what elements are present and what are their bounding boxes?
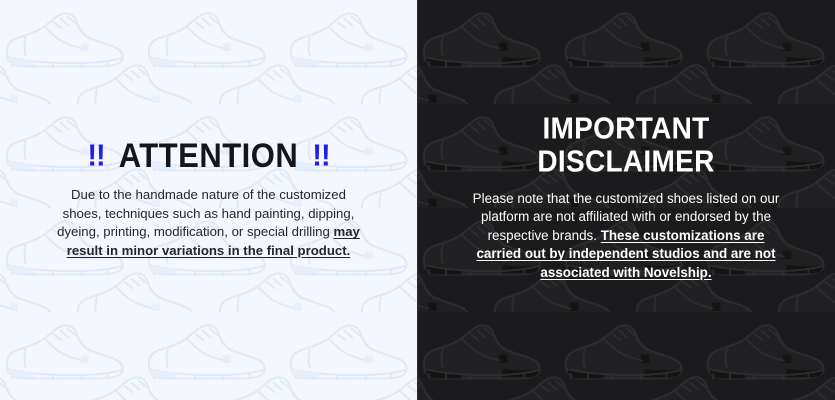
disclaimer-title-line-2: DISCLAIMER xyxy=(443,145,809,178)
panel-divider xyxy=(417,0,418,400)
disclaimer-heading: IMPORTANT DISCLAIMER xyxy=(443,111,809,178)
promo-banner: !! ATTENTION !! Due to the handmade natu… xyxy=(0,0,835,400)
exclamation-left-icon: !! xyxy=(87,140,104,172)
disclaimer-title-line-1: IMPORTANT xyxy=(443,111,809,144)
attention-body-normal: Due to the handmade nature of the custom… xyxy=(57,187,354,239)
exclamation-right-icon: !! xyxy=(312,140,329,172)
disclaimer-panel: IMPORTANT DISCLAIMER Please note that th… xyxy=(417,0,835,400)
attention-body-text: Due to the handmade nature of the custom… xyxy=(54,186,364,260)
attention-title: ATTENTION xyxy=(119,138,299,174)
disclaimer-body-text: Please note that the customized shoes li… xyxy=(466,190,786,283)
disclaimer-content: IMPORTANT DISCLAIMER Please note that th… xyxy=(417,118,835,283)
attention-content: !! ATTENTION !! Due to the handmade natu… xyxy=(0,140,417,261)
attention-panel: !! ATTENTION !! Due to the handmade natu… xyxy=(0,0,417,400)
attention-heading: !! ATTENTION !! xyxy=(26,140,391,173)
